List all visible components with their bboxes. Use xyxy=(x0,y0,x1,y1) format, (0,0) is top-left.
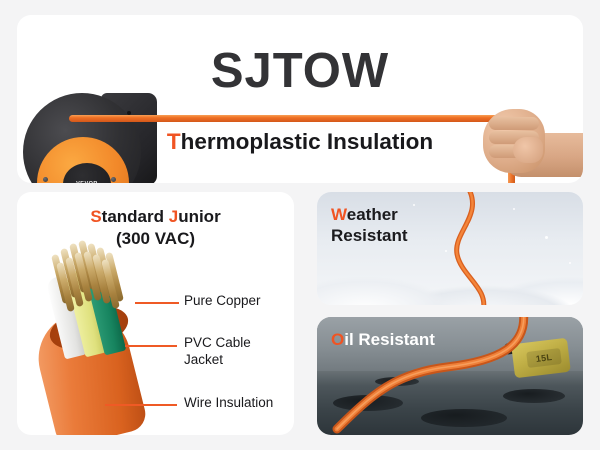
callout-line-pvc-jacket xyxy=(125,345,177,347)
page-title: SJTOW xyxy=(17,47,583,96)
reel-screw xyxy=(111,177,116,182)
reel-brand-label: VEVOR xyxy=(76,181,98,183)
oil-resistant-card: 15L Oil Resistant xyxy=(317,317,583,435)
hero-cable-icon xyxy=(69,115,507,122)
weather-resistant-card: Weather Resistant xyxy=(317,192,583,305)
callout-label-pure-copper: Pure Copper xyxy=(184,293,261,310)
hero-subtitle: Thermoplastic Insulation xyxy=(17,131,583,154)
spec-title: Standard Junior xyxy=(17,206,294,228)
spec-title-part-1: tandard xyxy=(102,207,169,226)
callout-label-pvc-jacket: PVC Cable Jacket xyxy=(184,335,251,368)
spec-card: Standard Junior (300 VAC) xyxy=(17,192,294,435)
hero-card: VEVOR SJTOW Thermoplastic Insulation xyxy=(17,15,583,183)
copper-strand-bundle xyxy=(53,240,133,302)
reel-screw xyxy=(43,177,48,182)
oil-heading-accent: O xyxy=(331,330,344,349)
spec-title-accent-j: J xyxy=(169,207,178,226)
hero-subtitle-accent: T xyxy=(167,129,181,154)
hero-subtitle-rest: hermoplastic Insulation xyxy=(181,129,434,154)
oil-panel-heading: Oil Resistant xyxy=(331,329,435,350)
weather-panel-heading: Weather Resistant xyxy=(331,204,408,246)
infographic-root: VEVOR SJTOW Thermoplastic Insulation Sta… xyxy=(0,0,600,450)
callout-label-wire-insulation: Wire Insulation xyxy=(184,395,273,412)
callout-line-pure-copper xyxy=(135,302,179,304)
spec-title-accent-s: S xyxy=(90,207,101,226)
callout-line-wire-insulation xyxy=(105,404,177,406)
finger xyxy=(489,117,539,130)
oil-heading-rest: il Resistant xyxy=(344,330,435,349)
weather-heading-accent: W xyxy=(331,205,347,224)
spec-title-part-2: unior xyxy=(178,207,221,226)
cable-cross-section-icon xyxy=(31,252,167,435)
